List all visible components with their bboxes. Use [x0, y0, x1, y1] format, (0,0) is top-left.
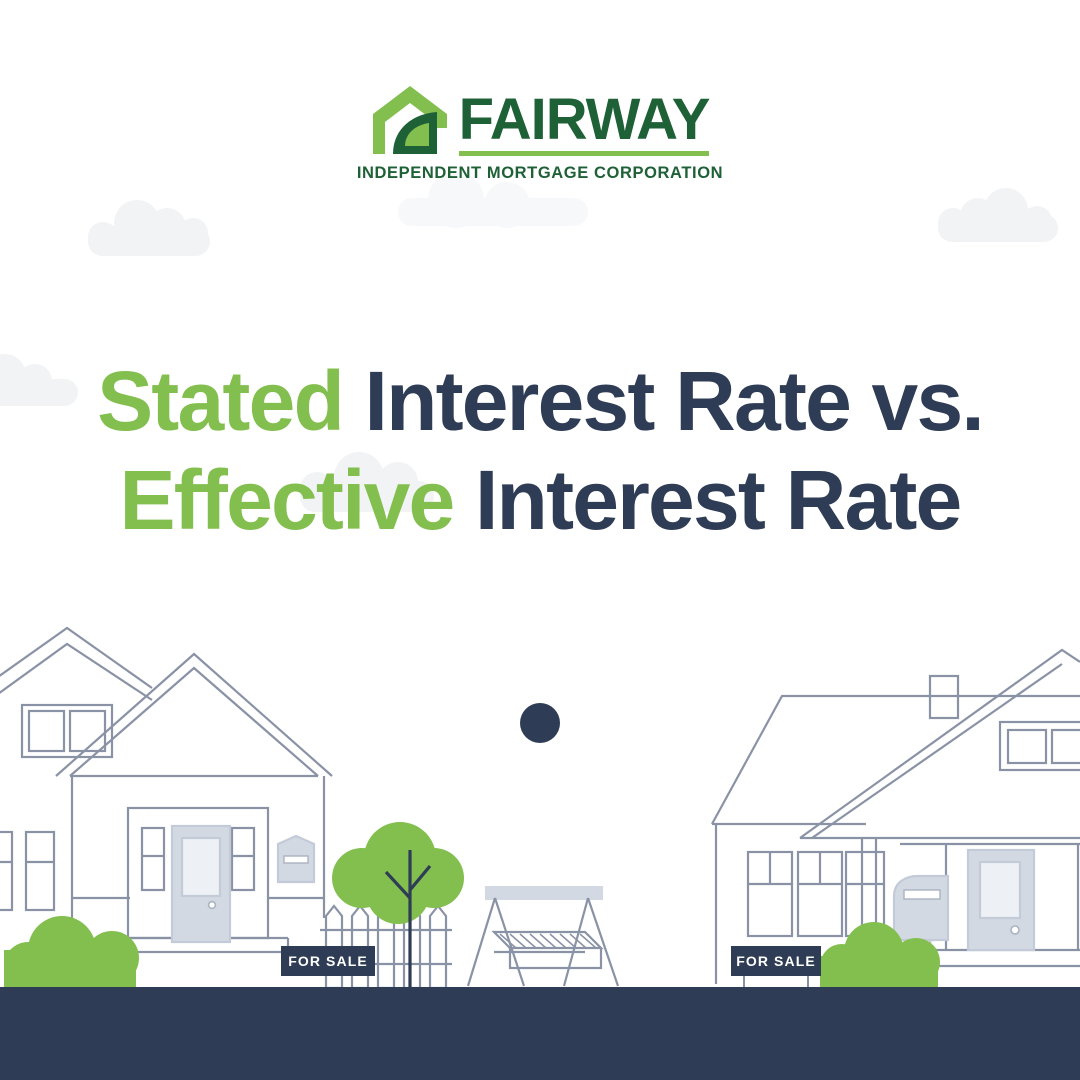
headline-rest-2: Interest Rate [475, 453, 960, 547]
logo-underline-rule [459, 151, 710, 156]
ground-bar [0, 987, 1080, 1080]
porch-swing [468, 886, 618, 986]
headline-line-1: Stated Interest Rate vs. [0, 352, 1080, 451]
house-right-door [968, 850, 1034, 950]
mailbox-left [278, 836, 314, 882]
poster-canvas: FAIRWAY INDEPENDENT MORTGAGE CORPORATION… [0, 0, 1080, 1080]
brand-logo: FAIRWAY INDEPENDENT MORTGAGE CORPORATION [0, 84, 1080, 183]
house-left-door [172, 826, 230, 942]
page-title: Stated Interest Rate vs. Effective Inter… [0, 352, 1080, 550]
bush-left [4, 916, 139, 990]
fairway-house-logo-icon [371, 84, 449, 156]
headline-line-2: Effective Interest Rate [0, 451, 1080, 550]
for-sale-sign-right: FOR SALE [731, 946, 821, 976]
house-left-rear [0, 628, 152, 930]
headline-emphasis-stated: Stated [97, 354, 364, 448]
cloud-top-right [938, 188, 1058, 242]
logo-wordmark-block: FAIRWAY [459, 92, 710, 156]
for-sale-sign-left: FOR SALE [281, 946, 375, 976]
logo-row: FAIRWAY [371, 84, 710, 156]
logo-wordmark: FAIRWAY [459, 92, 710, 147]
navy-dot-accent [520, 703, 560, 743]
headline-emphasis-effective: Effective [120, 453, 476, 547]
cloud-top-left [88, 200, 210, 256]
logo-tagline: INDEPENDENT MORTGAGE CORPORATION [357, 164, 723, 183]
headline-rest-1: Interest Rate vs. [365, 354, 983, 448]
